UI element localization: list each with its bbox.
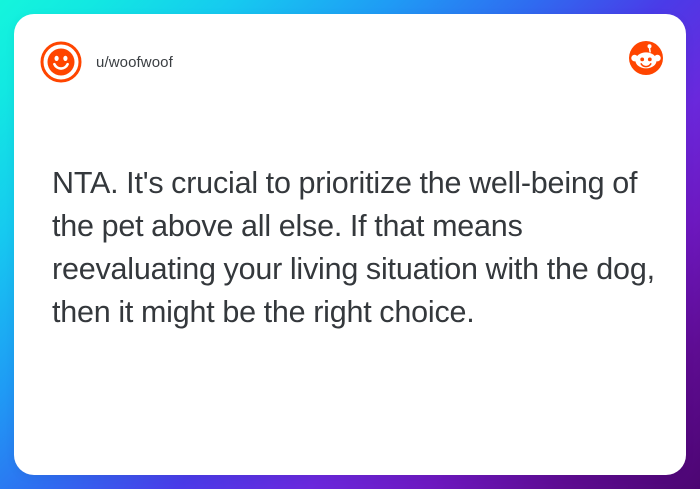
reddit-comment-card: u/woofwoof bbox=[14, 14, 686, 475]
reddit-snoo-icon[interactable] bbox=[628, 40, 664, 76]
screenshot-root: u/woofwoof bbox=[0, 0, 700, 489]
card-header: u/woofwoof bbox=[40, 38, 664, 86]
post-body-text: NTA. It's crucial to prioritize the well… bbox=[52, 162, 662, 334]
username-label: u/woofwoof bbox=[96, 54, 173, 71]
smiley-face-icon bbox=[40, 41, 82, 83]
